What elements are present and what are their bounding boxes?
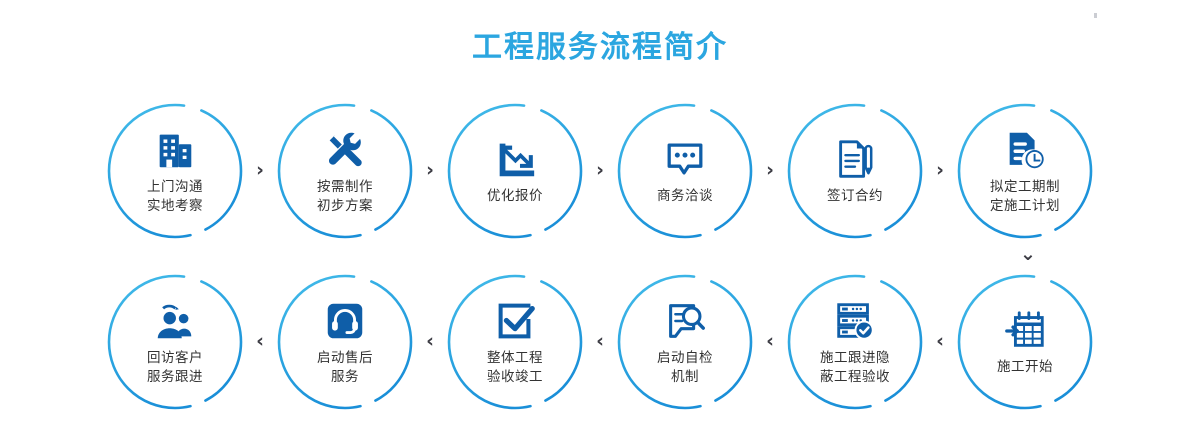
process-flow-infographic: 工程服务流程简介 [0, 0, 1200, 440]
decorative-speck [1094, 13, 1097, 18]
speech-bubble-icon [662, 136, 708, 182]
step-label-line-1: 整体工程 [487, 348, 543, 367]
checkbox-check-icon [492, 298, 538, 344]
calendar-arrow-icon [1002, 307, 1048, 353]
process-step-5[interactable]: 签订合约 [781, 97, 929, 245]
step-label-line-1: 上门沟通 [147, 177, 203, 196]
step-label-line-2: 实地考察 [147, 196, 203, 215]
chevron-left-icon-5: ‹ [929, 268, 951, 416]
process-row-top: 上门沟通 实地考察 › 按需制作 初步方案 [0, 97, 1200, 245]
step-label-line-2: 服务跟进 [147, 367, 203, 386]
step-label-line-2: 机制 [671, 367, 699, 386]
chevron-left-icon-3: ‹ [589, 268, 611, 416]
process-step-8[interactable]: 施工跟进隐 蔽工程验收 [781, 268, 929, 416]
office-building-icon [152, 127, 198, 173]
step-label-line-1: 按需制作 [317, 177, 373, 196]
document-magnifier-icon [662, 298, 708, 344]
step-label-line-1: 商务洽谈 [657, 186, 713, 205]
step-label-line-1: 启动售后 [317, 348, 373, 367]
chevron-right-icon-5: › [929, 97, 951, 245]
step-label-line-2: 服务 [331, 367, 359, 386]
server-check-icon [832, 298, 878, 344]
step-label-line-1: 回访客户 [147, 348, 203, 367]
document-clock-icon [1002, 127, 1048, 173]
process-step-11[interactable]: 启动售后 服务 [271, 268, 419, 416]
process-step-4[interactable]: 商务洽谈 [611, 97, 759, 245]
headset-support-icon [322, 298, 368, 344]
wrench-screwdriver-icon [322, 127, 368, 173]
step-label-line-1: 优化报价 [487, 186, 543, 205]
chevron-left-icon-1: ‹ [249, 268, 271, 416]
process-step-12[interactable]: 回访客户 服务跟进 [101, 268, 249, 416]
step-label-line-1: 签订合约 [827, 186, 883, 205]
step-label-line-2: 蔽工程验收 [820, 367, 890, 386]
process-row-bottom: 回访客户 服务跟进 ‹ [0, 268, 1200, 416]
chevron-left-icon-2: ‹ [419, 268, 441, 416]
two-people-icon [152, 298, 198, 344]
process-step-6[interactable]: 拟定工期制 定施工计划 [951, 97, 1099, 245]
chevron-right-icon-3: › [589, 97, 611, 245]
process-step-1[interactable]: 上门沟通 实地考察 [101, 97, 249, 245]
process-step-7[interactable]: 施工开始 [951, 268, 1099, 416]
step-label-line-1: 施工开始 [997, 357, 1053, 376]
page-title: 工程服务流程简介 [0, 22, 1200, 66]
step-label-line-2: 验收竣工 [487, 367, 543, 386]
chevron-left-icon-4: ‹ [759, 268, 781, 416]
chevron-right-icon-2: › [419, 97, 441, 245]
chevron-right-icon-4: › [759, 97, 781, 245]
step-label-line-2: 定施工计划 [990, 196, 1060, 215]
step-label-line-1: 拟定工期制 [990, 177, 1060, 196]
process-step-3[interactable]: 优化报价 [441, 97, 589, 245]
declining-chart-icon [492, 136, 538, 182]
step-label-line-1: 施工跟进隐 [820, 348, 890, 367]
down-chevron-icon: ⌄ [1012, 240, 1044, 268]
process-step-2[interactable]: 按需制作 初步方案 [271, 97, 419, 245]
document-pen-icon [832, 136, 878, 182]
chevron-right-icon-1: › [249, 97, 271, 245]
process-step-10[interactable]: 整体工程 验收竣工 [441, 268, 589, 416]
process-step-9[interactable]: 启动自检 机制 [611, 268, 759, 416]
step-label-line-1: 启动自检 [657, 348, 713, 367]
step-label-line-2: 初步方案 [317, 196, 373, 215]
